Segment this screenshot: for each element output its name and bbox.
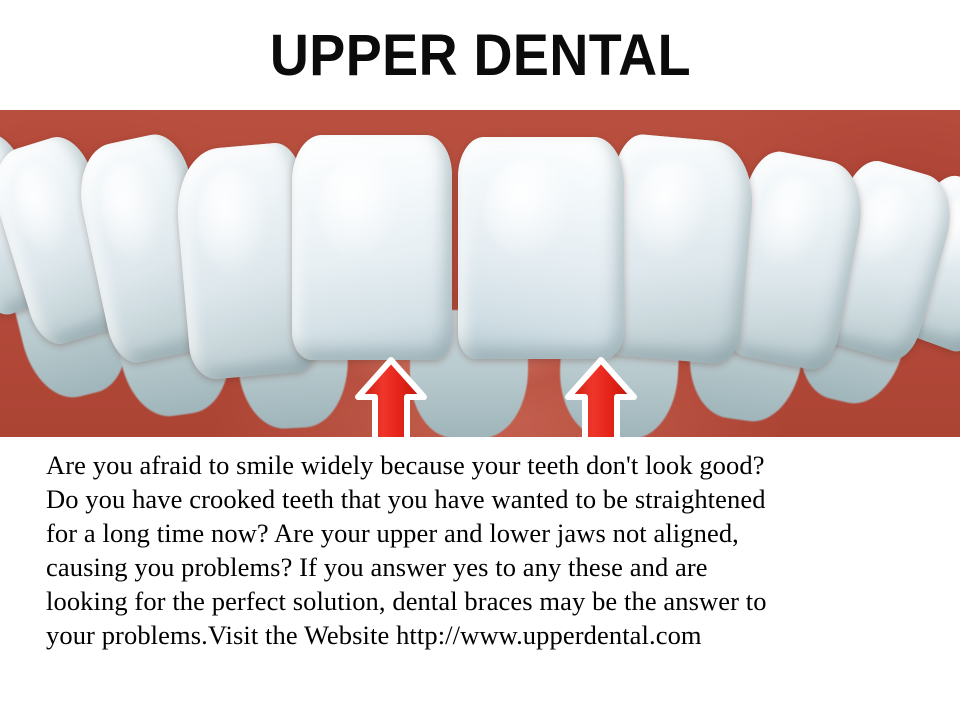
tooth-highlight	[4, 158, 83, 262]
body-copy: Are you afraid to smile widely because y…	[46, 448, 922, 652]
body-line: your problems.Visit the Website http://w…	[46, 618, 922, 652]
arrow-up-icon-right	[562, 357, 640, 437]
page-title: UPPER DENTAL	[269, 27, 690, 85]
tooth-highlight	[92, 157, 172, 269]
tooth-central-incisor-right	[458, 137, 624, 359]
tooth-highlight	[751, 171, 832, 277]
slide-root: UPPER DENTAL	[0, 0, 960, 720]
tooth-highlight	[629, 156, 713, 264]
arrow-up-icon-left	[352, 357, 430, 437]
tooth-central-incisor-left	[292, 135, 452, 360]
body-line: for a long time now? Are your upper and …	[46, 516, 922, 550]
body-line: looking for the perfect solution, dental…	[46, 584, 922, 618]
tooth-highlight	[485, 159, 575, 261]
body-line: Are you afraid to smile widely because y…	[46, 448, 922, 482]
title-bar: UPPER DENTAL	[0, 0, 960, 110]
tooth-highlight	[195, 167, 273, 278]
tooth-highlight	[318, 158, 404, 262]
body-line: Do you have crooked teeth that you have …	[46, 482, 922, 516]
dental-illustration	[0, 110, 960, 437]
body-line: causing you problems? If you answer yes …	[46, 550, 922, 584]
